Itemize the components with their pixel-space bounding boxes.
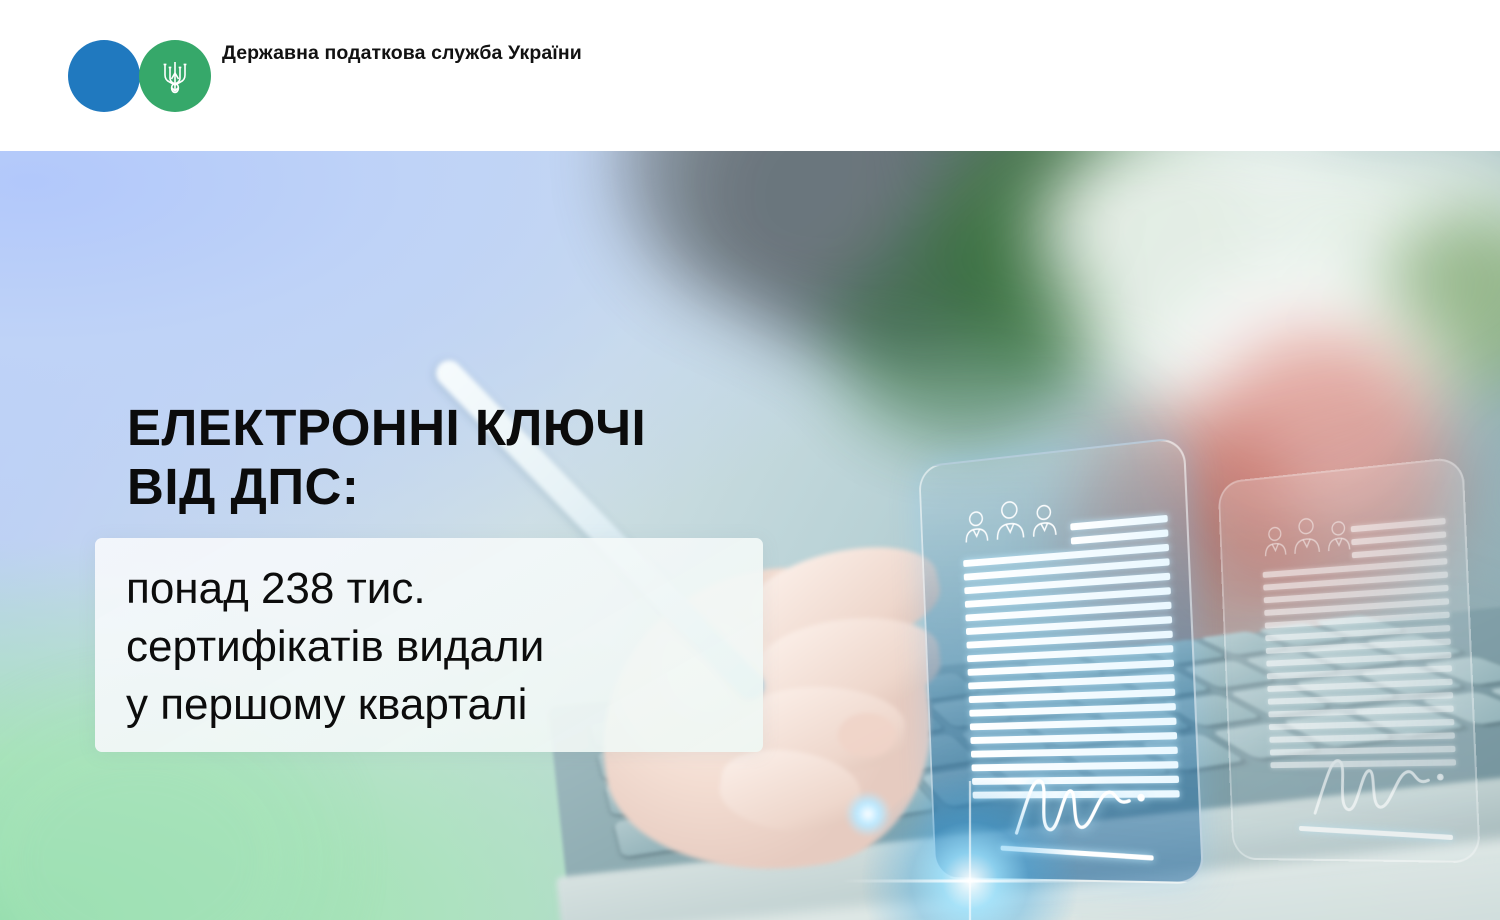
logo-marks [68,40,218,112]
poster-canvas: Державна податкова служба України [0,0,1500,920]
signature-underline [1299,826,1453,840]
pen-tip-glow [860,771,1080,920]
ukraine-trident-icon [160,58,190,94]
callout-box: понад 238 тис. сертифікатів видали у пер… [95,538,763,752]
site-header: Державна податкова служба України [0,0,1500,151]
signature-scribble-icon [1307,745,1457,826]
blue-circle-icon [68,40,140,112]
page-title: ЕЛЕКТРОННІ КЛЮЧІ ВІД ДПС: [127,398,646,516]
document-text-lines [962,515,1180,806]
secondary-hologram-document [1218,456,1481,863]
document-text-lines [1261,518,1456,775]
hero-photo [0,151,1500,920]
logo-text: Державна податкова служба України [222,40,582,66]
dps-logo[interactable]: Державна податкова служба України [68,40,582,112]
callout-text: понад 238 тис. сертифікатів видали у пер… [126,560,746,734]
thumb [838,713,896,757]
green-circle-icon [139,40,211,112]
